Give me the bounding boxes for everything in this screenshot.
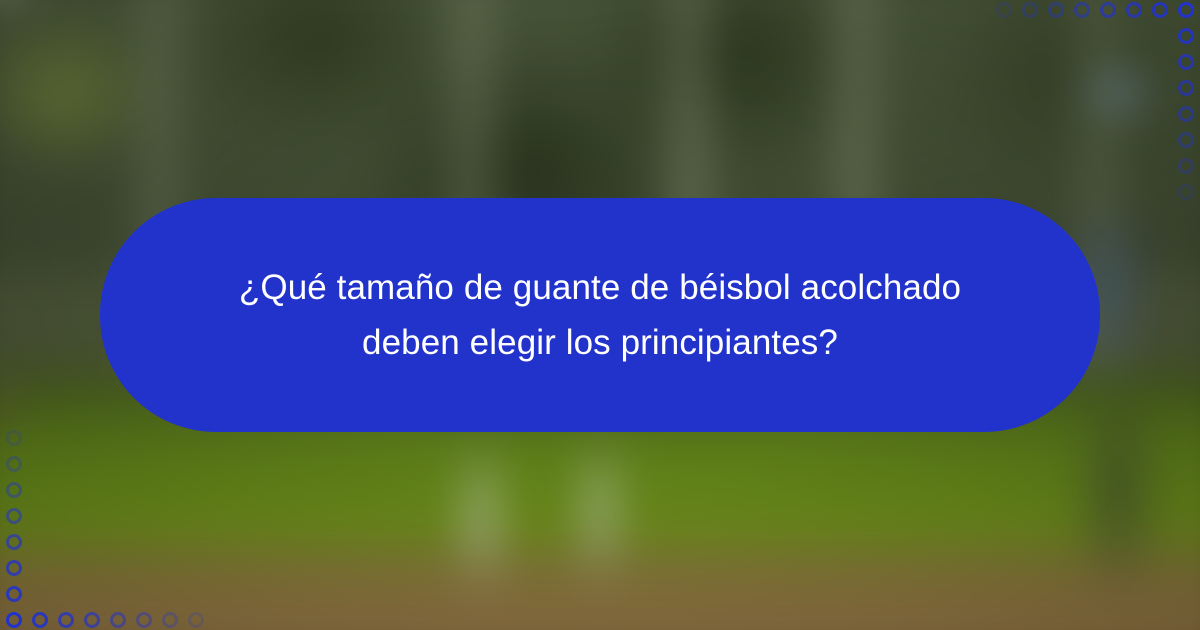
headline-text: ¿Qué tamaño de guante de béisbol acolcha… (195, 260, 1005, 371)
headline-card: ¿Qué tamaño de guante de béisbol acolcha… (100, 198, 1100, 432)
share-card-canvas: ¿Qué tamaño de guante de béisbol acolcha… (0, 0, 1200, 630)
